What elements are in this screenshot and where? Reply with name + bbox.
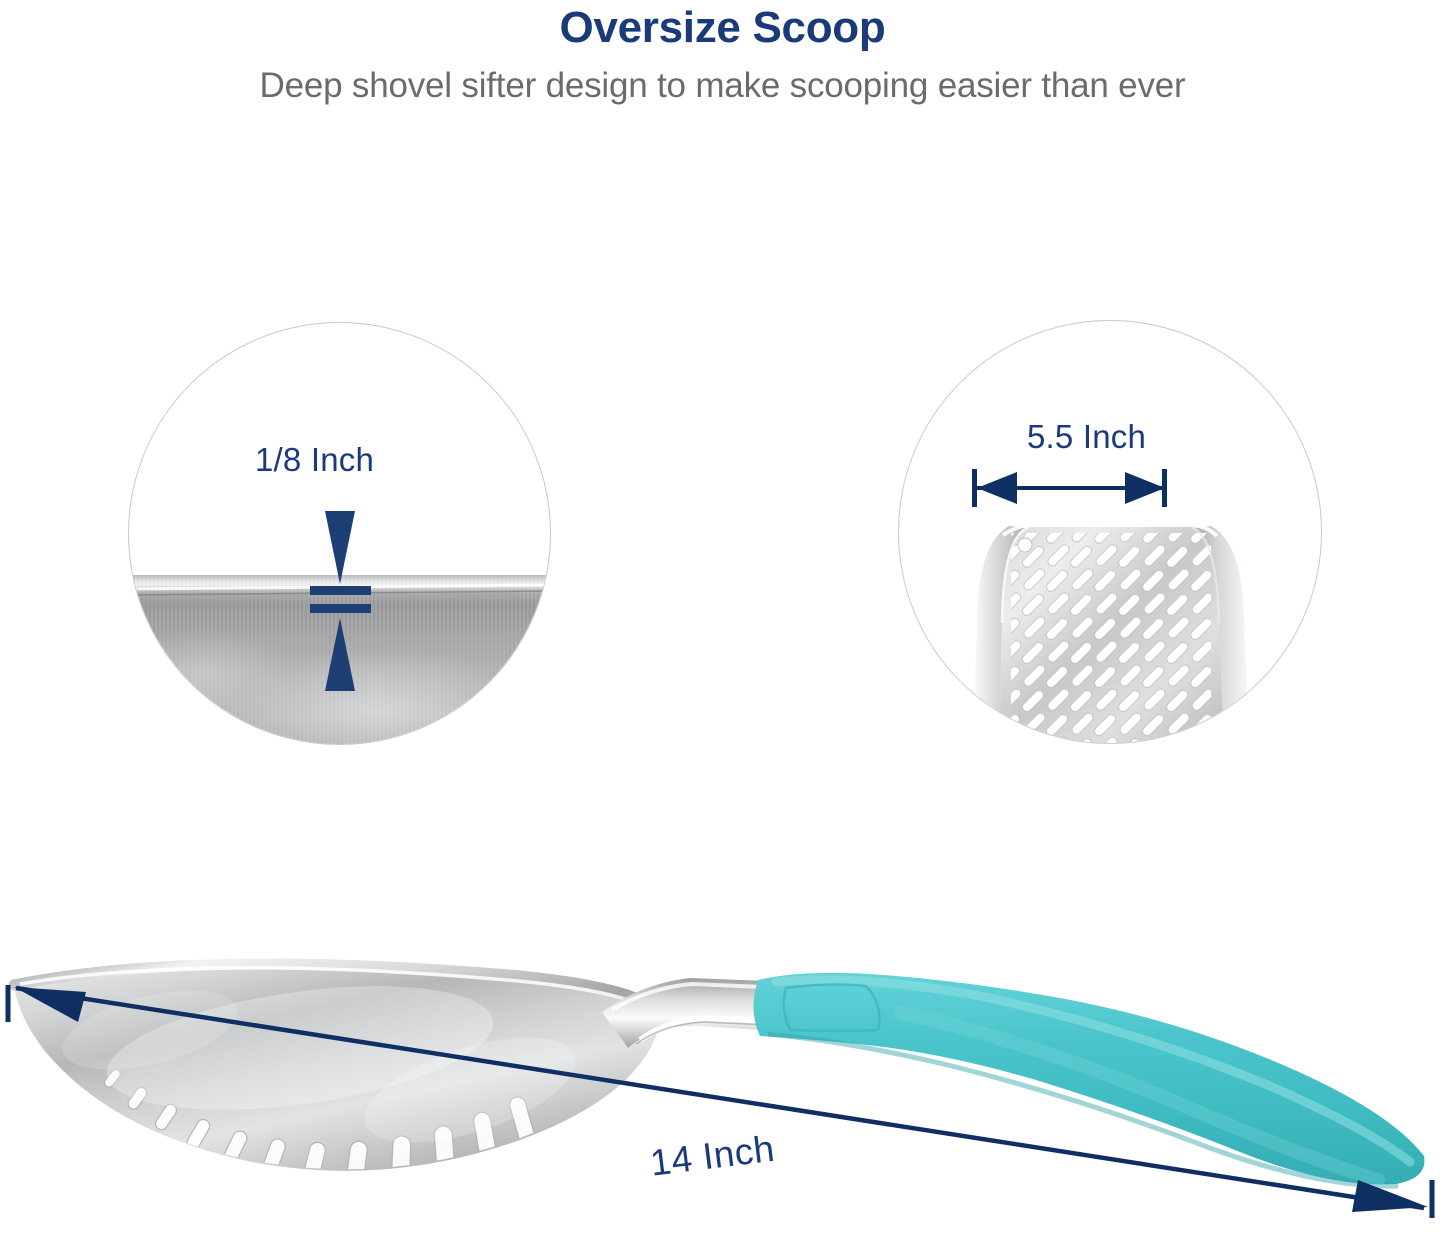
page-subtitle: Deep shovel sifter design to make scoopi… — [0, 52, 1445, 106]
thickness-arrow-top-icon — [325, 511, 355, 584]
product-photo-with-length-dimension — [0, 940, 1445, 1235]
scoop-head-closeup-image — [899, 321, 1322, 744]
callout-width-detail: 5.5 Inch — [898, 320, 1322, 744]
callout-thickness-detail: 1/8 Inch — [128, 322, 551, 745]
scoop-bowl — [14, 964, 662, 1194]
thickness-arrow-bottom-icon — [325, 618, 355, 691]
page-title: Oversize Scoop — [0, 0, 1445, 52]
thickness-bar-lower — [310, 604, 371, 613]
thickness-measurement-label: 1/8 Inch — [255, 441, 374, 479]
header: Oversize Scoop Deep shovel sifter design… — [0, 0, 1445, 107]
thickness-bar-upper — [310, 586, 371, 595]
